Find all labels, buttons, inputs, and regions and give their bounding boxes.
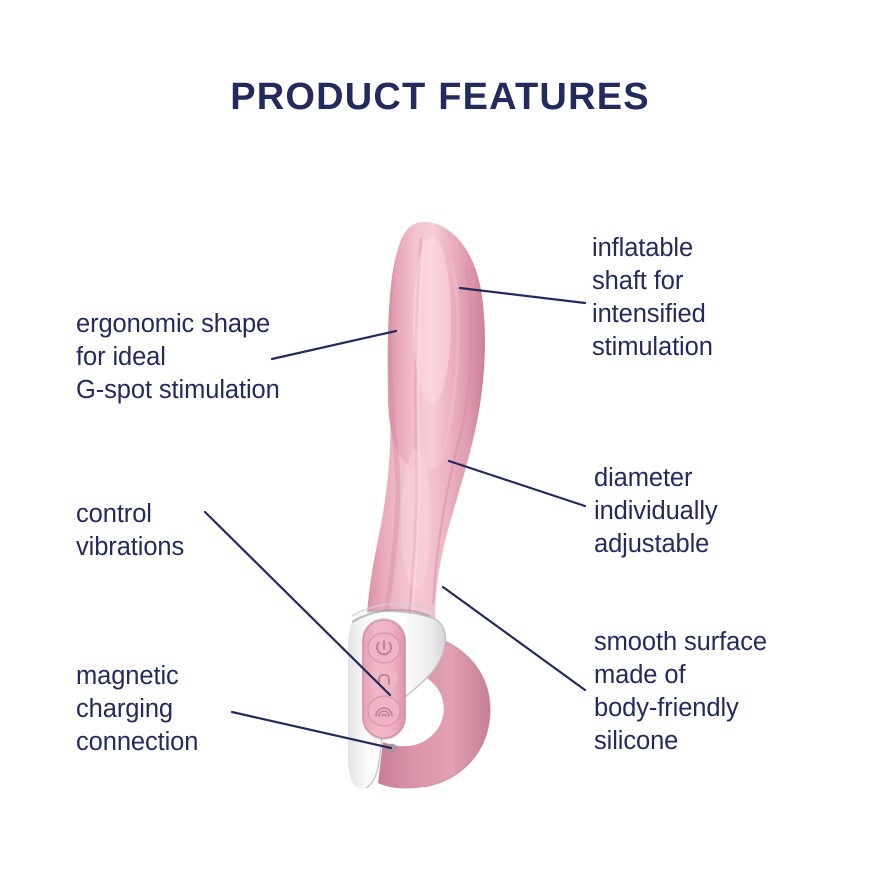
feature-label-inflatable: inflatable shaft for intensified stimula… — [592, 232, 802, 365]
feature-label-control: control vibrations — [76, 498, 266, 564]
feature-label-diameter: diameter individually adjustable — [594, 462, 809, 561]
product-features-infographic: PRODUCT FEATURES — [0, 0, 880, 880]
product-body — [366, 222, 485, 642]
control-panel[interactable] — [362, 618, 406, 740]
feature-label-magnetic: magnetic charging connection — [76, 660, 276, 759]
vibration-button[interactable] — [368, 696, 400, 726]
feature-label-smooth: smooth surface made of body-friendly sil… — [594, 626, 824, 759]
inflate-button[interactable] — [370, 666, 398, 692]
feature-label-ergonomic: ergonomic shape for ideal G-spot stimula… — [76, 308, 346, 407]
power-button[interactable] — [368, 633, 400, 663]
